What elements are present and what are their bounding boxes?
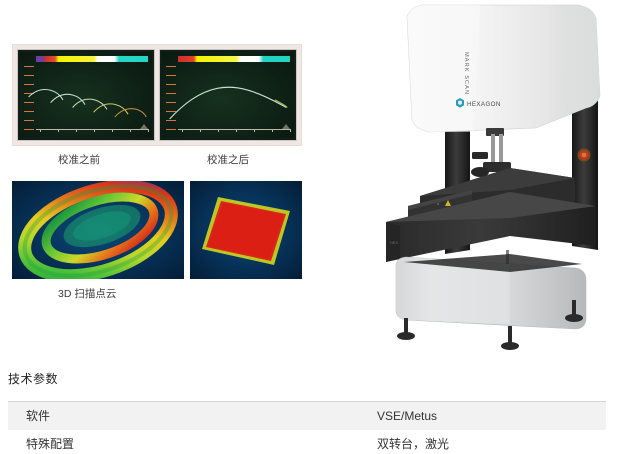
- spec-key-special-config: 特殊配置: [8, 430, 377, 454]
- calibration-chart-panel: [12, 44, 302, 146]
- svg-text:HEX: HEX: [390, 240, 399, 245]
- caption-before-calibration: 校准之前: [58, 152, 100, 167]
- svg-text:MARK SCAN: MARK SCAN: [463, 52, 469, 95]
- point-cloud-slab-graphic: [190, 181, 302, 279]
- chart-marker-icon: [140, 124, 148, 129]
- spec-table: 软件 VSE/Metus 特殊配置 双转台，激光: [8, 401, 606, 454]
- chart-captions: 校准之前 校准之后: [0, 152, 310, 168]
- spec-heading: 技术参数: [8, 370, 58, 387]
- svg-text:HEXAGON: HEXAGON: [467, 101, 501, 108]
- chart-x-axis-before: [36, 129, 148, 130]
- chart-traces-after: [162, 52, 294, 138]
- point-cloud-ring-graphic: [12, 181, 184, 279]
- spec-key-software: 软件: [8, 402, 377, 431]
- table-row: 特殊配置 双转台，激光: [8, 430, 606, 454]
- table-row: 软件 VSE/Metus: [8, 402, 606, 431]
- spec-value-software: VSE/Metus: [377, 402, 606, 431]
- caption-3d-scan: 3D 扫描点云: [58, 286, 116, 301]
- chart-before-calibration: [17, 49, 155, 141]
- machine-photo: MARK SCAN HEXAGON: [360, 0, 622, 356]
- chart-traces-before: [20, 52, 152, 138]
- chart-x-axis-after: [178, 129, 290, 130]
- scan-image-group: [12, 181, 302, 279]
- scan-point-cloud-slab: [190, 181, 302, 279]
- caption-after-calibration: 校准之后: [207, 152, 249, 167]
- chart-after-calibration: [159, 49, 297, 141]
- spec-value-special-config: 双转台，激光: [377, 430, 606, 454]
- cmm-measuring-machine-icon: MARK SCAN HEXAGON: [360, 0, 622, 356]
- scan-point-cloud-ring: [12, 181, 184, 279]
- product-page: 校准之前 校准之后: [0, 0, 622, 454]
- chart-marker-icon: [282, 124, 290, 129]
